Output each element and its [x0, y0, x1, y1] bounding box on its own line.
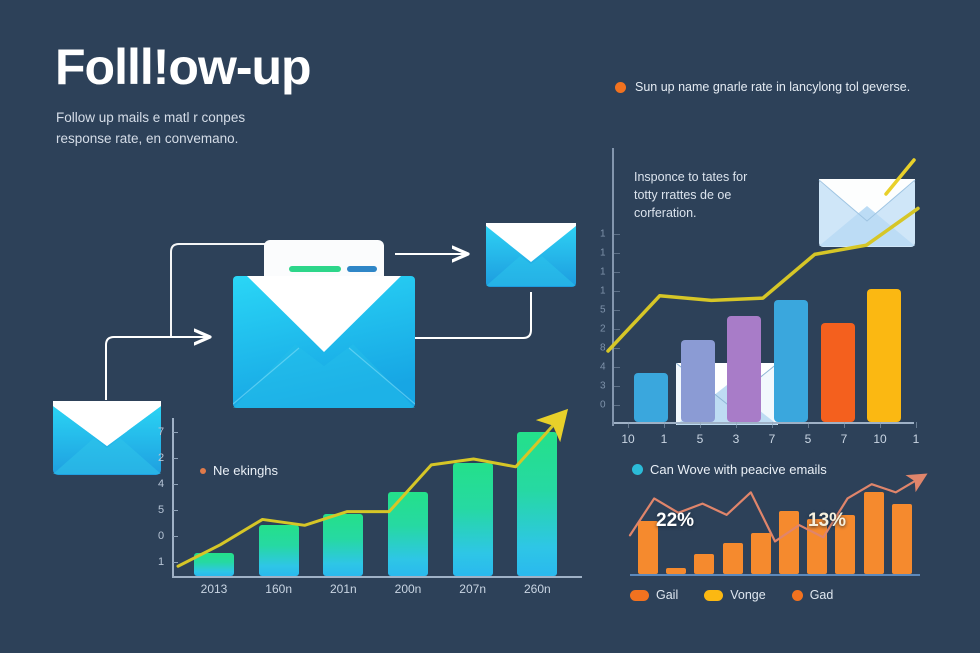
y-tick-label: 4 [600, 362, 606, 373]
x-tick-mark [772, 422, 773, 428]
legend-label: Ne ekinghs [213, 463, 278, 478]
orange-bar-chart: 22% 13% [630, 482, 920, 576]
page-subtitle: Follow up mails e matl r conpes response… [56, 108, 276, 150]
x-tick-label: 10 [873, 432, 886, 446]
trend-line [614, 170, 914, 362]
y-tick-label: 2 [158, 452, 164, 464]
x-tick-mark [844, 422, 845, 428]
x-tick-mark [916, 422, 917, 428]
response-bar-chart: 1111528430 [614, 232, 914, 424]
y-tick-label: 8 [600, 343, 606, 354]
x-tick-label: 260n [524, 582, 551, 596]
bar [666, 568, 686, 574]
y-tick-label: 4 [158, 478, 164, 490]
y-tick-mark [614, 405, 620, 406]
y-tick-label: 3 [600, 381, 606, 392]
envelope-small-left [52, 400, 162, 476]
x-tick-mark [664, 422, 665, 428]
growth-bar-chart: 724501 Ne ekinghs [172, 418, 582, 578]
legend-dot-icon [200, 468, 206, 474]
x-tick-label: 7 [769, 432, 776, 446]
x-tick-label: 10 [621, 432, 634, 446]
legend-dot-icon [792, 590, 803, 601]
legend-label: Gail [656, 588, 678, 602]
trend-line [172, 418, 582, 578]
x-tick-mark [880, 422, 881, 428]
y-tick-mark [614, 367, 620, 368]
x-tick-label: 5 [805, 432, 812, 446]
x-tick-label: 5 [697, 432, 704, 446]
y-tick-label: 1 [158, 556, 164, 568]
legend-item-gad: Gad [792, 588, 834, 602]
x-tick-label: 200n [395, 582, 422, 596]
annotation-13: 13% [808, 510, 846, 532]
annotation-22: 22% [656, 510, 694, 532]
legend-label: Gad [810, 588, 834, 602]
y-tick-label: 2 [600, 324, 606, 335]
callout-top-label: Sun up name gnarle rate in lancylong tol… [635, 80, 910, 94]
x-tick-label: 2013 [201, 582, 228, 596]
x-tick-label: 7 [841, 432, 848, 446]
x-tick-mark [700, 422, 701, 428]
legend-label: Vonge [730, 588, 765, 602]
y-tick-label: 1 [600, 229, 606, 240]
y-tick-label: 1 [600, 286, 606, 297]
y-tick-label: 7 [158, 426, 164, 438]
x-tick-label: 1 [661, 432, 668, 446]
legend-item-gail: Gail [630, 588, 678, 602]
legend-item-vonge: Vonge [704, 588, 765, 602]
y-tick-label: 1 [600, 267, 606, 278]
y-tick-label: 1 [600, 248, 606, 259]
bar [634, 373, 668, 422]
x-axis [614, 422, 914, 424]
x-tick-mark [628, 422, 629, 428]
y-tick-mark [614, 386, 620, 387]
x-tick-label: 3 [733, 432, 740, 446]
y-tick-label: 5 [158, 504, 164, 516]
x-tick-mark [736, 422, 737, 428]
y-tick-label: 5 [600, 305, 606, 316]
x-tick-label: 1 [913, 432, 920, 446]
legend-swatch-icon [704, 590, 723, 601]
x-tick-label: 201n [330, 582, 357, 596]
envelope-main-open [233, 240, 415, 410]
y-tick-label: 0 [600, 400, 606, 411]
chart-legend: Ne ekinghs [200, 463, 278, 478]
infographic-canvas: Folll!ow-up Follow up mails e matl r con… [0, 0, 980, 653]
bullet-dot-icon [615, 82, 626, 93]
x-tick-mark [808, 422, 809, 428]
x-tick-label: 207n [459, 582, 486, 596]
envelope-top-right [485, 222, 577, 288]
legend-swatch-icon [630, 590, 649, 601]
y-tick-label: 0 [158, 530, 164, 542]
page-title: Folll!ow-up [55, 42, 311, 92]
orange-chart-legend: Gail Vonge Gad [630, 588, 833, 602]
callout-top: Sun up name gnarle rate in lancylong tol… [615, 80, 910, 94]
x-axis [630, 574, 920, 576]
x-tick-label: 160n [265, 582, 292, 596]
